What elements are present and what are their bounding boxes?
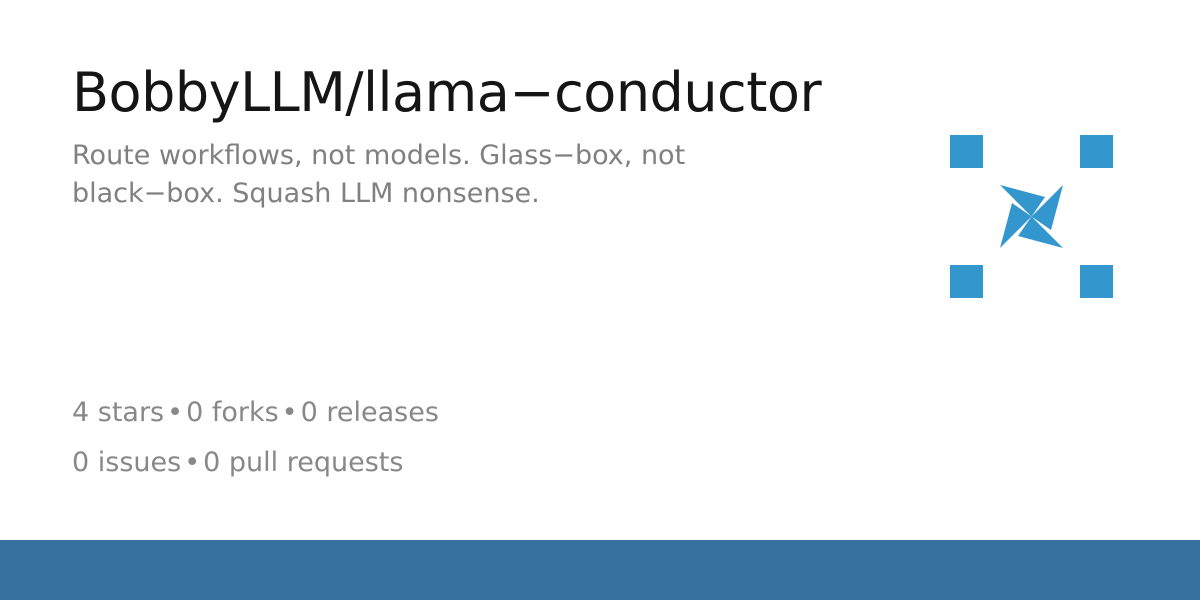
text-column: BobbyLLM/llama−conductor Route workflows… bbox=[72, 62, 862, 213]
logo-square-bottom-left bbox=[950, 265, 983, 298]
footer-accent-bar bbox=[0, 540, 1200, 600]
stat-stars: 4 stars bbox=[72, 397, 164, 428]
repo-description: Route workflows, not models. Glass−box, … bbox=[72, 124, 812, 213]
stat-issues: 0 issues bbox=[72, 447, 181, 478]
stat-forks: 0 forks bbox=[186, 397, 279, 428]
stats-line-secondary: 0 issues•0 pull requests bbox=[72, 438, 772, 488]
stat-separator: • bbox=[279, 397, 301, 428]
four-pointed-star-with-corner-squares-icon bbox=[950, 135, 1113, 298]
social-preview-card: BobbyLLM/llama−conductor Route workflows… bbox=[0, 0, 1200, 600]
stat-separator: • bbox=[164, 397, 186, 428]
repo-stats: 4 stars•0 forks•0 releases 0 issues•0 pu… bbox=[72, 388, 772, 488]
logo-square-top-right bbox=[1080, 135, 1113, 168]
page-title: BobbyLLM/llama−conductor bbox=[72, 62, 862, 124]
logo-square-top-left bbox=[950, 135, 983, 168]
stat-pull-requests: 0 pull requests bbox=[203, 447, 403, 478]
stats-line-primary: 4 stars•0 forks•0 releases bbox=[72, 388, 772, 438]
stat-releases: 0 releases bbox=[301, 397, 439, 428]
stat-separator: • bbox=[181, 447, 203, 478]
logo-square-bottom-right bbox=[1080, 265, 1113, 298]
